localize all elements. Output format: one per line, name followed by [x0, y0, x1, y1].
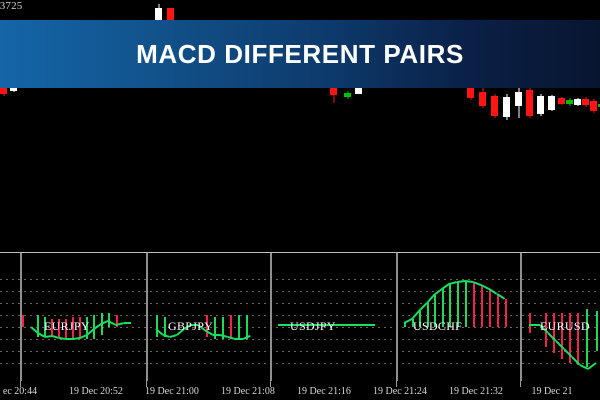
macd-histogram-bar: [596, 311, 598, 351]
candle-body: [582, 99, 589, 105]
time-axis-label: 19 Dec 21:08: [221, 386, 275, 397]
macd-histogram-bar: [529, 313, 531, 333]
candle-body: [491, 96, 498, 116]
candle-body: [479, 92, 486, 106]
time-axis-label: 19 Dec 21:00: [145, 386, 199, 397]
candle-body: [558, 98, 565, 104]
candle-body: [548, 96, 555, 110]
time-axis-label: 19 Dec 21:16: [297, 386, 351, 397]
candle-body: [515, 92, 522, 106]
macd-signal-line-segment: [587, 362, 596, 370]
time-axis-label: 19 Dec 20:52: [69, 386, 123, 397]
macd-pair-label-eurusd: EURUSD: [540, 319, 590, 334]
candle-body: [566, 100, 573, 104]
title-banner: MACD DIFFERENT PAIRS: [0, 20, 600, 88]
candle-body: [330, 88, 337, 95]
candle-body: [503, 97, 510, 117]
macd-indicator-pane[interactable]: EURJPYGBPJPYUSDJPYUSDCHFEURUSD: [0, 253, 600, 381]
candle-body: [526, 90, 533, 116]
candle-body: [10, 88, 17, 91]
time-axis-label: ec 20:44: [3, 386, 37, 397]
time-tick: [520, 381, 521, 387]
macd-histogram-bar: [586, 309, 588, 367]
candle-body: [537, 96, 544, 114]
macd-panel-eurusd[interactable]: EURUSD: [0, 253, 600, 381]
candle-body: [344, 93, 351, 97]
time-axis[interactable]: ec 20:4419 Dec 20:5219 Dec 21:0019 Dec 2…: [0, 381, 600, 400]
candle-body: [155, 8, 162, 20]
time-axis-label: 19 Dec 21: [531, 386, 572, 397]
candle-body: [590, 101, 597, 111]
chart-window: 33725 MACD DIFFERENT PAIRS EURJPYGBPJPYU…: [0, 0, 600, 400]
page-title: MACD DIFFERENT PAIRS: [136, 39, 464, 70]
candle-body: [355, 88, 362, 94]
time-axis-label: 19 Dec 21:32: [449, 386, 503, 397]
candle-body: [574, 99, 581, 105]
time-axis-label: 19 Dec 21:24: [373, 386, 427, 397]
